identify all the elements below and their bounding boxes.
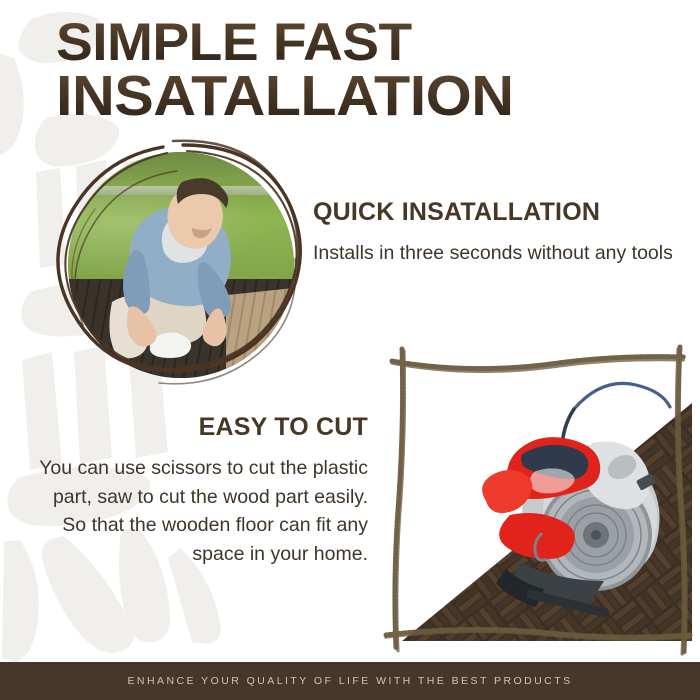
feature-heading-cut: EASY TO CUT <box>28 413 368 442</box>
title-line-1: SIMPLE FAST <box>56 18 700 68</box>
feature-easy-to-cut: EASY TO CUT You can use scissors to cut … <box>28 413 368 569</box>
page-title: SIMPLE FAST INSATALLATION <box>56 18 676 123</box>
feature-heading-quick: QUICK INSATALLATION <box>313 198 685 227</box>
poster-root: SIMPLE FAST INSATALLATION <box>0 0 700 700</box>
footer-bar: ENHANCE YOUR QUALITY OF LIFE WITH THE BE… <box>0 662 700 700</box>
sketchy-circle-frame <box>55 139 307 391</box>
feature-body-quick: Installs in three seconds without any to… <box>313 240 685 268</box>
footer-tagline: ENHANCE YOUR QUALITY OF LIFE WITH THE BE… <box>127 675 572 687</box>
title-line-2: INSATALLATION <box>56 69 700 123</box>
circular-saw-illustration <box>378 343 698 663</box>
saw-photo <box>378 343 698 663</box>
feature-body-cut: You can use scissors to cut the plastic … <box>28 454 368 569</box>
install-photo <box>55 139 307 391</box>
feature-quick-installation: QUICK INSATALLATION Installs in three se… <box>313 198 685 268</box>
